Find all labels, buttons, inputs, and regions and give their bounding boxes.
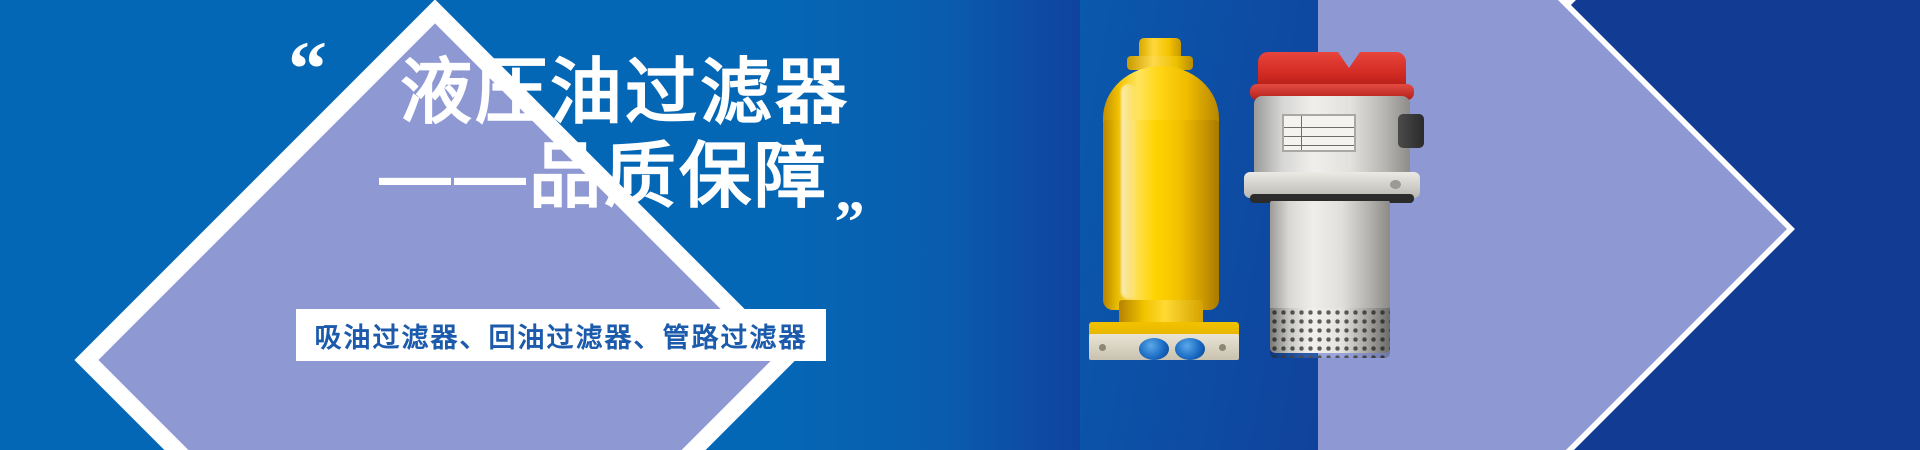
return-filter-nameplate <box>1282 114 1356 152</box>
return-filter-cap-notch <box>1338 52 1360 68</box>
yellow-filter-port-right <box>1175 338 1205 360</box>
yellow-filter-bolt-left <box>1099 344 1106 351</box>
yellow-filter-port-left <box>1139 338 1169 360</box>
headline-line-2: ——品质保障„ <box>288 136 868 220</box>
headline-line-1: 液压油过滤器 <box>288 52 868 136</box>
subtitle-text: 吸油过滤器、回油过滤器、管路过滤器 <box>315 316 808 355</box>
headline: 液压油过滤器 ——品质保障„ <box>288 52 868 219</box>
promo-banner: “ 液压油过滤器 ——品质保障„ 吸油过滤器、回油过滤器、管路过滤器 <box>0 0 1920 450</box>
nameplate-row-3 <box>1284 145 1354 146</box>
return-filter-side-knob <box>1398 114 1424 148</box>
subtitle-box: 吸油过滤器、回油过滤器、管路过滤器 <box>296 309 826 361</box>
return-filter-flange-hole <box>1390 180 1401 189</box>
nameplate-divider <box>1301 116 1302 150</box>
headline-line-2-text: ——品质保障 <box>379 137 829 217</box>
nameplate-row-1 <box>1284 127 1354 128</box>
product-yellow-suction-filter <box>1083 38 1259 350</box>
yellow-filter-highlight <box>1121 84 1136 299</box>
yellow-filter-bolt-right <box>1219 344 1226 351</box>
nameplate-row-2 <box>1284 136 1354 137</box>
return-filter-mesh-shading <box>1270 308 1390 358</box>
product-return-line-filter <box>1240 52 1428 360</box>
